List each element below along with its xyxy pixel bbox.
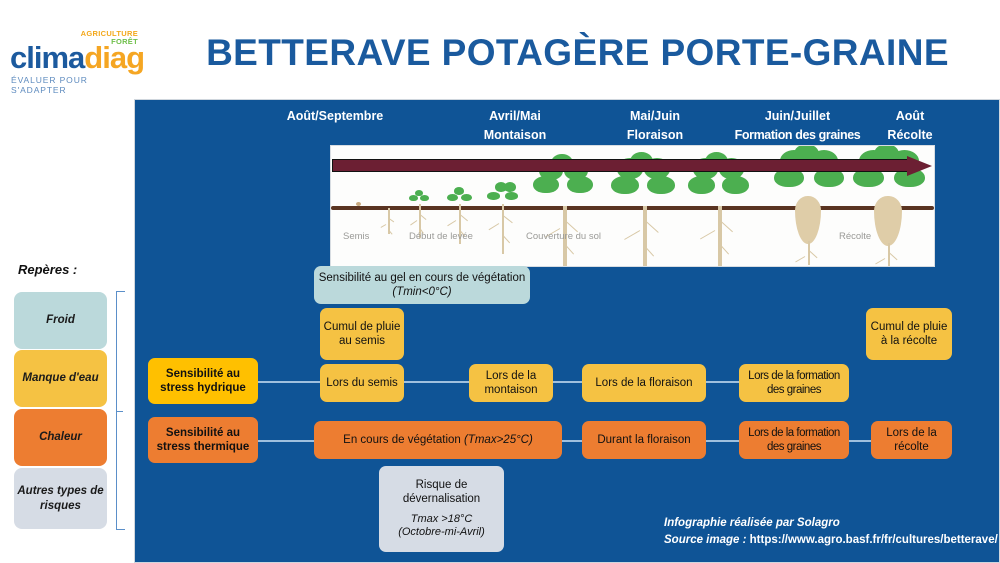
footer-source-label: Source image : [664,534,750,546]
column-header-avril-mai: Avril/Mai Montaison [440,107,590,146]
footer-line-source: Source image : https://www.agro.basf.fr/… [664,532,998,549]
legend-item-chaleur: Chaleur [14,409,107,466]
legend-item-label: Autres types de risques [14,484,107,513]
page-title: BETTERAVE POTAGÈRE PORTE-GRAINE [160,32,995,74]
risk-box-water-formation-graines[interactable]: Lors de la formation des graines [739,364,849,402]
devernalisation-line1: Risque de [416,478,468,492]
soil-line [331,206,934,210]
arrow-shaft [332,159,910,172]
logo-wordmark: climadiag [10,42,144,73]
risk-box-frost-main: Sensibilité au gel en cours de végétatio… [319,272,526,284]
risk-box-rain-seeding[interactable]: Cumul de pluie au semis [320,308,404,360]
connector-water-4 [705,381,740,383]
risk-box-heat-formation-graines-text: Lors de la formation des graines [739,426,849,455]
risk-box-devernalisation[interactable]: Risque de dévernalisation Tmax >18°C (Oc… [379,466,504,552]
climadiag-logo: AGRICULTURE FORÊT climadiag ÉVALUER POUR… [10,30,140,86]
risk-box-water-formation-graines-text: Lors de la formation des graines [739,369,849,398]
column-header-aout-recolte: Août Récolte [855,107,965,146]
stage-label-recolte: Récolte [839,231,871,242]
devernalisation-line2: dévernalisation [403,492,480,506]
stage-label-semis: Semis [343,231,369,242]
risk-box-frost-note: (Tmin<0°C) [392,286,451,298]
connector-water-2 [404,381,474,383]
legend-item-label: Froid [46,313,75,327]
logo-diag-text: diag [84,40,144,75]
footer-credits: Infographie réalisée par Solagro Source … [664,515,998,548]
risk-box-heat-recolte[interactable]: Lors de la récolte [871,421,952,459]
column-header-line2: Montaison [440,126,590,145]
timeline-arrow [332,156,932,176]
legend-item-label: Chaleur [39,430,82,444]
risk-box-heat-vegetation-note: (Tmax>25°C) [464,434,533,446]
connector-heat-3 [705,440,740,442]
legend-bracket [116,291,125,530]
risk-box-frost-text: Sensibilité au gel en cours de végétatio… [314,271,530,300]
risk-box-water-semis-text: Lors du semis [326,376,398,390]
logo-tagline: ÉVALUER POUR S'ADAPTER [11,75,140,95]
risk-box-water-semis[interactable]: Lors du semis [320,364,404,402]
risk-box-heat-formation-graines[interactable]: Lors de la formation des graines [739,421,849,459]
footer-source-url: https://www.agro.basf.fr/fr/cultures/bet… [750,534,998,546]
legend-item-froid: Froid [14,292,107,349]
column-header-line1: Août/Septembre [225,107,445,126]
risk-box-heat-vegetation[interactable]: En cours de végétation (Tmax>25°C) [314,421,562,459]
connector-heat-4 [848,440,873,442]
legend-title: Repères : [18,262,77,277]
risk-box-frost[interactable]: Sensibilité au gel en cours de végétatio… [314,266,530,304]
risk-box-heat-vegetation-main: En cours de végétation [343,434,464,446]
arrow-head-icon [907,156,932,176]
risk-label-heat-stress-text: Sensibilité au stress thermique [148,426,258,455]
legend-item-manque-eau: Manque d'eau [14,350,107,407]
risk-box-water-montaison-text: Lors de la montaison [469,369,553,398]
column-header-line1: Août [855,107,965,126]
stage-label-couverture-sol: Couverture du sol [526,231,601,242]
legend-item-autres-risques: Autres types de risques [14,468,107,529]
risk-box-rain-harvest-text: Cumul de pluie à la récolte [866,320,952,349]
connector-heat-1 [258,440,314,442]
devernalisation-line4: (Octobre-mi-Avril) [398,526,485,540]
risk-box-heat-vegetation-text: En cours de végétation (Tmax>25°C) [343,433,533,447]
connector-water-3 [553,381,583,383]
devernalisation-line3: Tmax >18°C [411,513,473,527]
legend-item-label: Manque d'eau [22,371,98,385]
risk-box-heat-floraison[interactable]: Durant la floraison [582,421,706,459]
risk-box-rain-harvest[interactable]: Cumul de pluie à la récolte [866,308,952,360]
column-header-mai-juin: Mai/Juin Floraison [585,107,725,146]
risk-label-water-stress-text: Sensibilité au stress hydrique [148,367,258,396]
column-header-line1: Mai/Juin [585,107,725,126]
column-header-line1: Avril/Mai [440,107,590,126]
stage-label-debut-levee: Début de levée [409,231,473,242]
column-header-aout-septembre: Août/Septembre [225,107,445,126]
risk-label-heat-stress[interactable]: Sensibilité au stress thermique [148,417,258,463]
logo-clima-text: clima [10,40,84,75]
risk-box-water-floraison[interactable]: Lors de la floraison [582,364,706,402]
risk-box-water-montaison[interactable]: Lors de la montaison [469,364,553,402]
connector-heat-2 [561,440,583,442]
column-header-line2: Récolte [855,126,965,145]
risk-box-rain-seeding-text: Cumul de pluie au semis [320,320,404,349]
footer-line-infographie: Infographie réalisée par Solagro [664,515,998,532]
risk-box-water-floraison-text: Lors de la floraison [595,376,692,390]
risk-box-heat-floraison-text: Durant la floraison [597,433,690,447]
column-header-line2: Floraison [585,126,725,145]
risk-box-heat-recolte-text: Lors de la récolte [871,426,952,455]
risk-label-water-stress[interactable]: Sensibilité au stress hydrique [148,358,258,404]
